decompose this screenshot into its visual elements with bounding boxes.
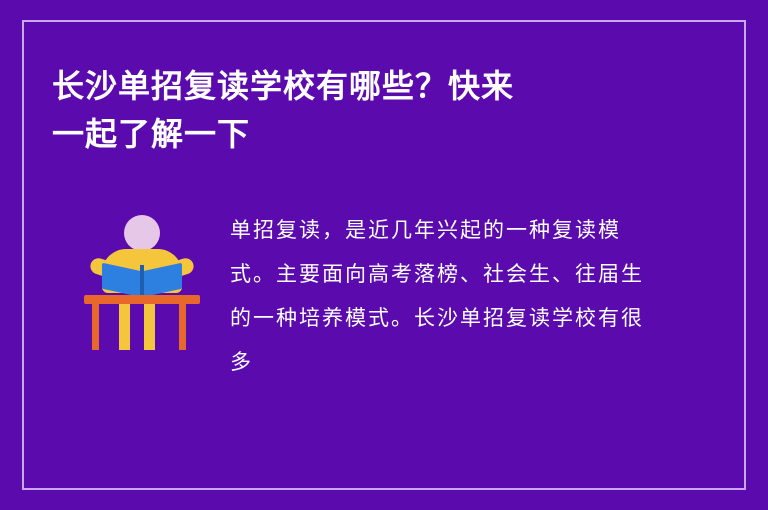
desk-top-icon <box>84 295 200 304</box>
desk-leg-right-icon <box>179 304 186 350</box>
student-leg-left-icon <box>119 304 130 350</box>
poster-container: 长沙单招复读学校有哪些？快来 一起了解一下 单招复读，是近几年兴起的一种复读模式… <box>0 0 768 510</box>
page-title: 长沙单招复读学校有哪些？快来 一起了解一下 <box>52 62 672 158</box>
page-title-line-2: 一起了解一下 <box>52 110 672 158</box>
book-spine-icon <box>140 265 144 295</box>
student-leg-right-icon <box>144 304 155 350</box>
student-head-icon <box>124 215 160 251</box>
student-reading-at-desk-icon <box>78 215 208 355</box>
page-title-line-1: 长沙单招复读学校有哪些？快来 <box>52 67 514 105</box>
body-paragraph: 单招复读，是近几年兴起的一种复读模式。主要面向高考落榜、社会生、往届生的一种培养… <box>230 208 650 384</box>
desk-leg-left-icon <box>92 304 99 350</box>
